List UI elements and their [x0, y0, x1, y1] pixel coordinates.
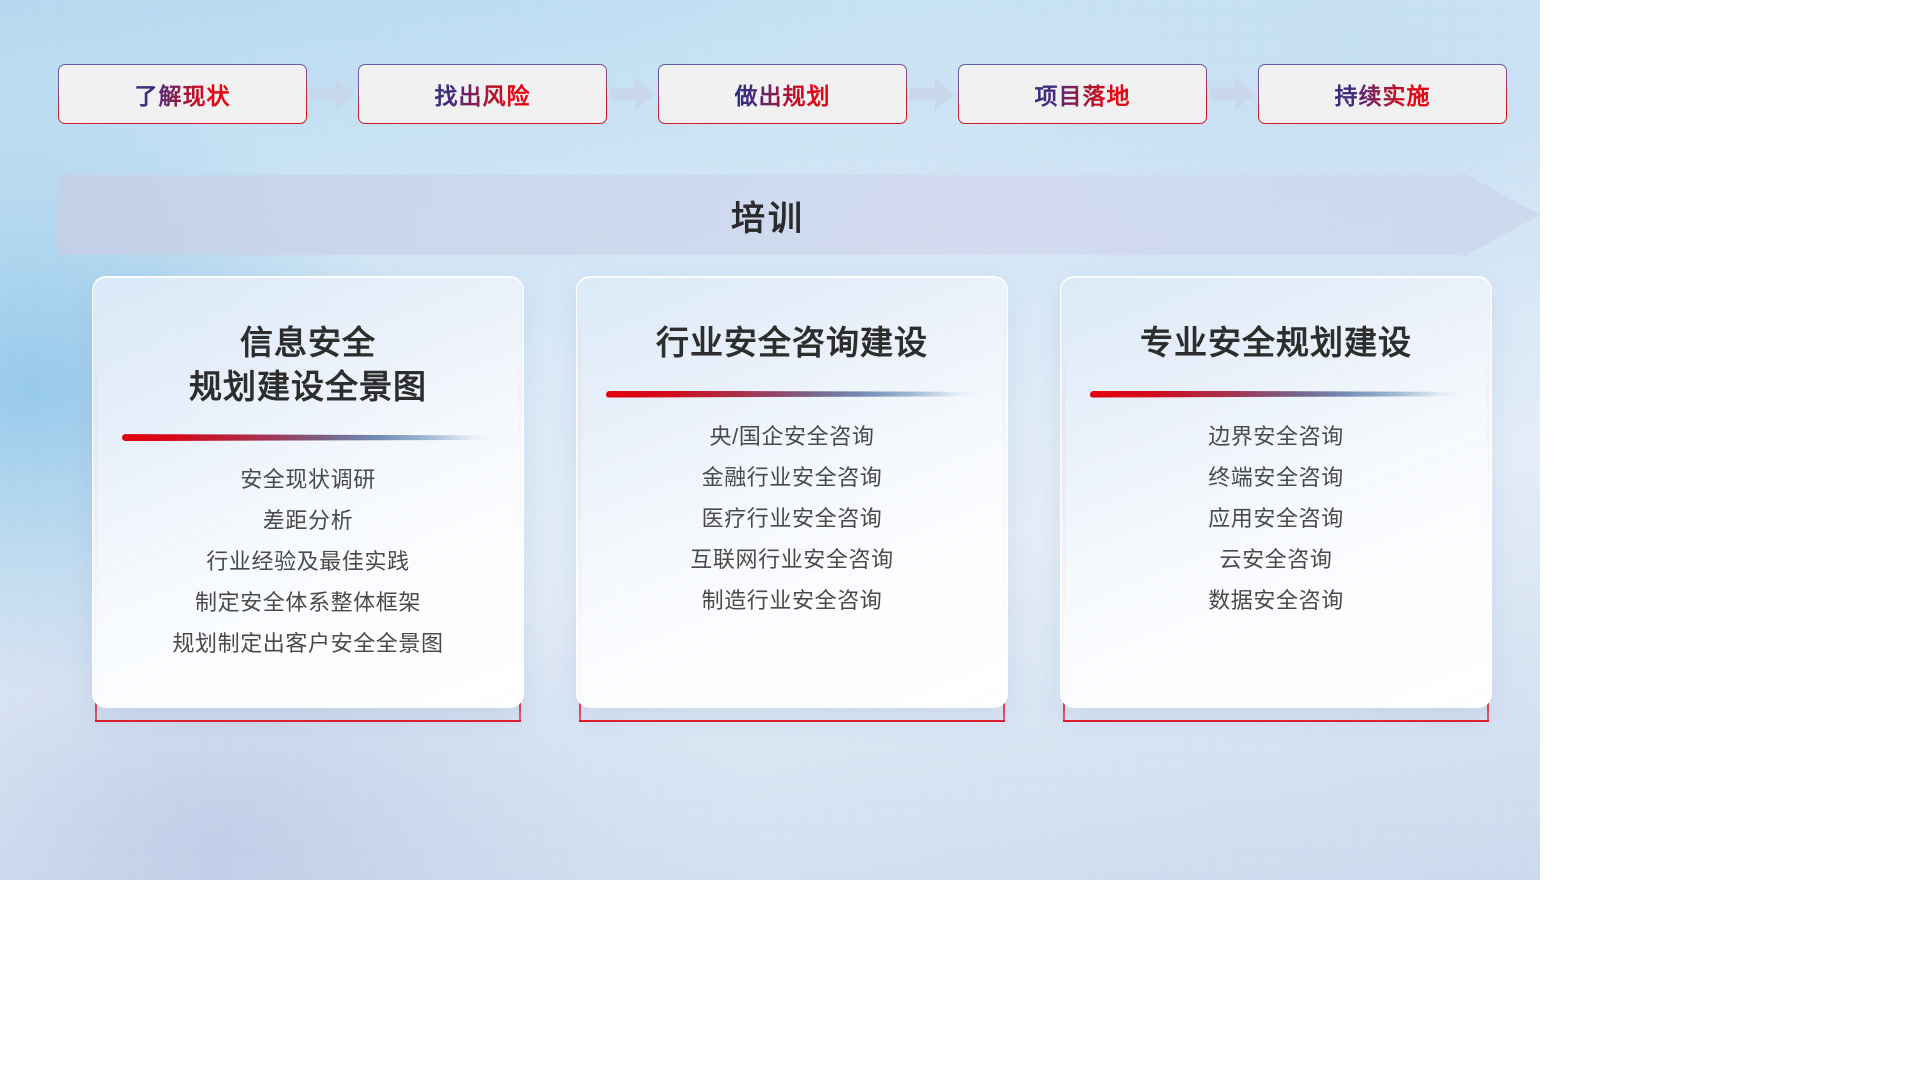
process-step-3[interactable]: 做出规划 [658, 64, 907, 124]
card-1-divider [122, 434, 494, 441]
list-item: 行业经验及最佳实践 [206, 545, 409, 578]
card-2-rail-bottom [579, 720, 1005, 722]
list-item: 终端安全咨询 [1208, 461, 1344, 494]
card-wrap-1: 信息安全 规划建设全景图 安全现状调研 差距分析 行业经验及最佳实践 制定安全体… [92, 276, 524, 716]
list-item: 应用安全咨询 [1208, 502, 1344, 535]
process-step-row: 了解现状 找出风险 做出规划 [58, 63, 1510, 125]
process-step-3-surface: 做出规划 [659, 65, 906, 123]
card-wrap-2: 行业安全咨询建设 央/国企安全咨询 金融行业安全咨询 医疗行业安全咨询 互联网行… [576, 276, 1008, 716]
list-item: 央/国企安全咨询 [710, 420, 875, 453]
process-step-4-label: 项目落地 [1035, 77, 1131, 111]
card-3-title: 专业安全规划建设 [1116, 321, 1436, 365]
card-1-title: 信息安全 规划建设全景图 [165, 321, 451, 408]
card-wrap-3: 专业安全规划建设 边界安全咨询 终端安全咨询 应用安全咨询 云安全咨询 数据安全… [1060, 276, 1492, 716]
list-item: 金融行业安全咨询 [702, 461, 883, 494]
list-item: 安全现状调研 [240, 463, 376, 496]
card-1-rail-bottom [95, 720, 521, 722]
process-step-5-label: 持续实施 [1335, 77, 1431, 111]
process-step-1-surface: 了解现状 [59, 65, 306, 123]
card-3-list: 边界安全咨询 终端安全咨询 应用安全咨询 云安全咨询 数据安全咨询 [1208, 420, 1344, 617]
list-item: 互联网行业安全咨询 [690, 543, 893, 576]
card-industry-security-consulting[interactable]: 行业安全咨询建设 央/国企安全咨询 金融行业安全咨询 医疗行业安全咨询 互联网行… [576, 276, 1008, 708]
card-2-title: 行业安全咨询建设 [632, 321, 952, 365]
process-step-5[interactable]: 持续实施 [1258, 64, 1507, 124]
card-2-divider [606, 391, 978, 398]
process-step-3-label: 做出规划 [735, 77, 831, 111]
list-item: 医疗行业安全咨询 [702, 502, 883, 535]
process-step-4-surface: 项目落地 [959, 65, 1206, 123]
list-item: 数据安全咨询 [1208, 584, 1344, 617]
list-item: 边界安全咨询 [1208, 420, 1344, 453]
step-arrow-4 [1207, 74, 1258, 114]
process-step-2-surface: 找出风险 [359, 65, 606, 123]
card-information-security-blueprint[interactable]: 信息安全 规划建设全景图 安全现状调研 差距分析 行业经验及最佳实践 制定安全体… [92, 276, 524, 708]
list-item: 云安全咨询 [1219, 543, 1332, 576]
process-step-5-surface: 持续实施 [1259, 65, 1506, 123]
card-3-rail-bottom [1063, 720, 1489, 722]
training-banner-label: 培训 [731, 191, 805, 240]
list-item: 制造行业安全咨询 [702, 584, 883, 617]
card-professional-security-planning[interactable]: 专业安全规划建设 边界安全咨询 终端安全咨询 应用安全咨询 云安全咨询 数据安全… [1060, 276, 1492, 708]
card-2-list: 央/国企安全咨询 金融行业安全咨询 医疗行业安全咨询 互联网行业安全咨询 制造行… [690, 420, 893, 617]
card-row: 信息安全 规划建设全景图 安全现状调研 差距分析 行业经验及最佳实践 制定安全体… [92, 276, 1492, 716]
step-arrow-2 [607, 74, 658, 114]
training-banner: 培训 [58, 172, 1540, 258]
card-1-list: 安全现状调研 差距分析 行业经验及最佳实践 制定安全体系整体框架 规划制定出客户… [172, 463, 443, 660]
training-banner-label-wrap: 培训 [58, 172, 1478, 258]
process-step-4[interactable]: 项目落地 [958, 64, 1207, 124]
process-step-1-label: 了解现状 [135, 77, 231, 111]
list-item: 规划制定出客户安全全景图 [172, 627, 443, 660]
list-item: 差距分析 [263, 504, 353, 537]
card-3-divider [1090, 391, 1462, 398]
slide-canvas: 了解现状 找出风险 做出规划 [0, 0, 1540, 880]
step-arrow-1 [307, 74, 358, 114]
process-step-2[interactable]: 找出风险 [358, 64, 607, 124]
process-step-2-label: 找出风险 [435, 77, 531, 111]
process-step-1[interactable]: 了解现状 [58, 64, 307, 124]
step-arrow-3 [907, 74, 958, 114]
list-item: 制定安全体系整体框架 [195, 586, 421, 619]
